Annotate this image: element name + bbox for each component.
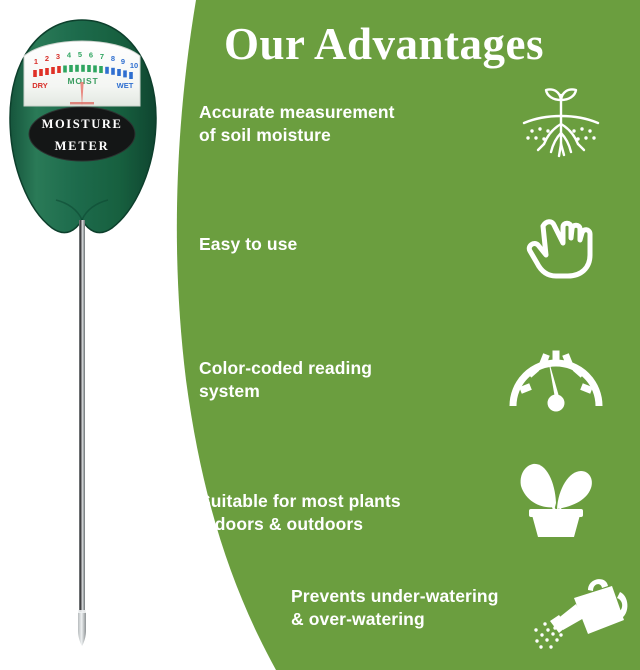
svg-text:1: 1 (34, 57, 38, 66)
infographic-page: Our Advantages Accurate measurement of s… (0, 0, 640, 670)
watering-can-icon (534, 572, 630, 654)
feature-label: Prevents under-watering & over-watering (291, 585, 499, 631)
potted-plant-icon (512, 455, 600, 539)
dial-label-wet: WET (117, 81, 134, 90)
svg-text:5: 5 (78, 50, 82, 59)
svg-text:3: 3 (56, 52, 60, 61)
svg-text:7: 7 (100, 52, 104, 61)
badge-line-2: METER (55, 139, 110, 153)
svg-text:10: 10 (130, 61, 138, 70)
page-title: Our Advantages (224, 18, 544, 70)
probe-tip (78, 612, 86, 646)
svg-text:2: 2 (45, 54, 49, 63)
pointing-hand-icon (521, 210, 599, 282)
meter-probe (79, 220, 85, 612)
badge-line-1: MOISTURE (42, 117, 123, 131)
feature-label: Color-coded reading system (199, 357, 372, 403)
svg-text:8: 8 (111, 54, 115, 63)
feature-item-easy-to-use: Easy to use (199, 233, 297, 256)
feature-item-accurate-measurement: Accurate measurement of soil moisture (199, 101, 395, 147)
sprout-roots-icon (518, 86, 604, 164)
gauge-icon (507, 342, 605, 412)
dial-label-dry: DRY (32, 81, 48, 90)
moisture-meter-device: 1 2 3 4 5 6 7 8 9 10 (8, 14, 168, 654)
svg-text:9: 9 (121, 57, 125, 66)
feature-item-color-coded-reading: Color-coded reading system (199, 357, 372, 403)
feature-item-prevents-watering-issues: Prevents under-watering & over-watering (291, 585, 499, 631)
svg-text:6: 6 (89, 51, 93, 60)
feature-label: Easy to use (199, 233, 297, 256)
feature-item-suitable-for-plants: Suitable for most plants indoors & outdo… (199, 490, 401, 536)
feature-label: Suitable for most plants indoors & outdo… (199, 490, 401, 536)
feature-label: Accurate measurement of soil moisture (199, 101, 395, 147)
